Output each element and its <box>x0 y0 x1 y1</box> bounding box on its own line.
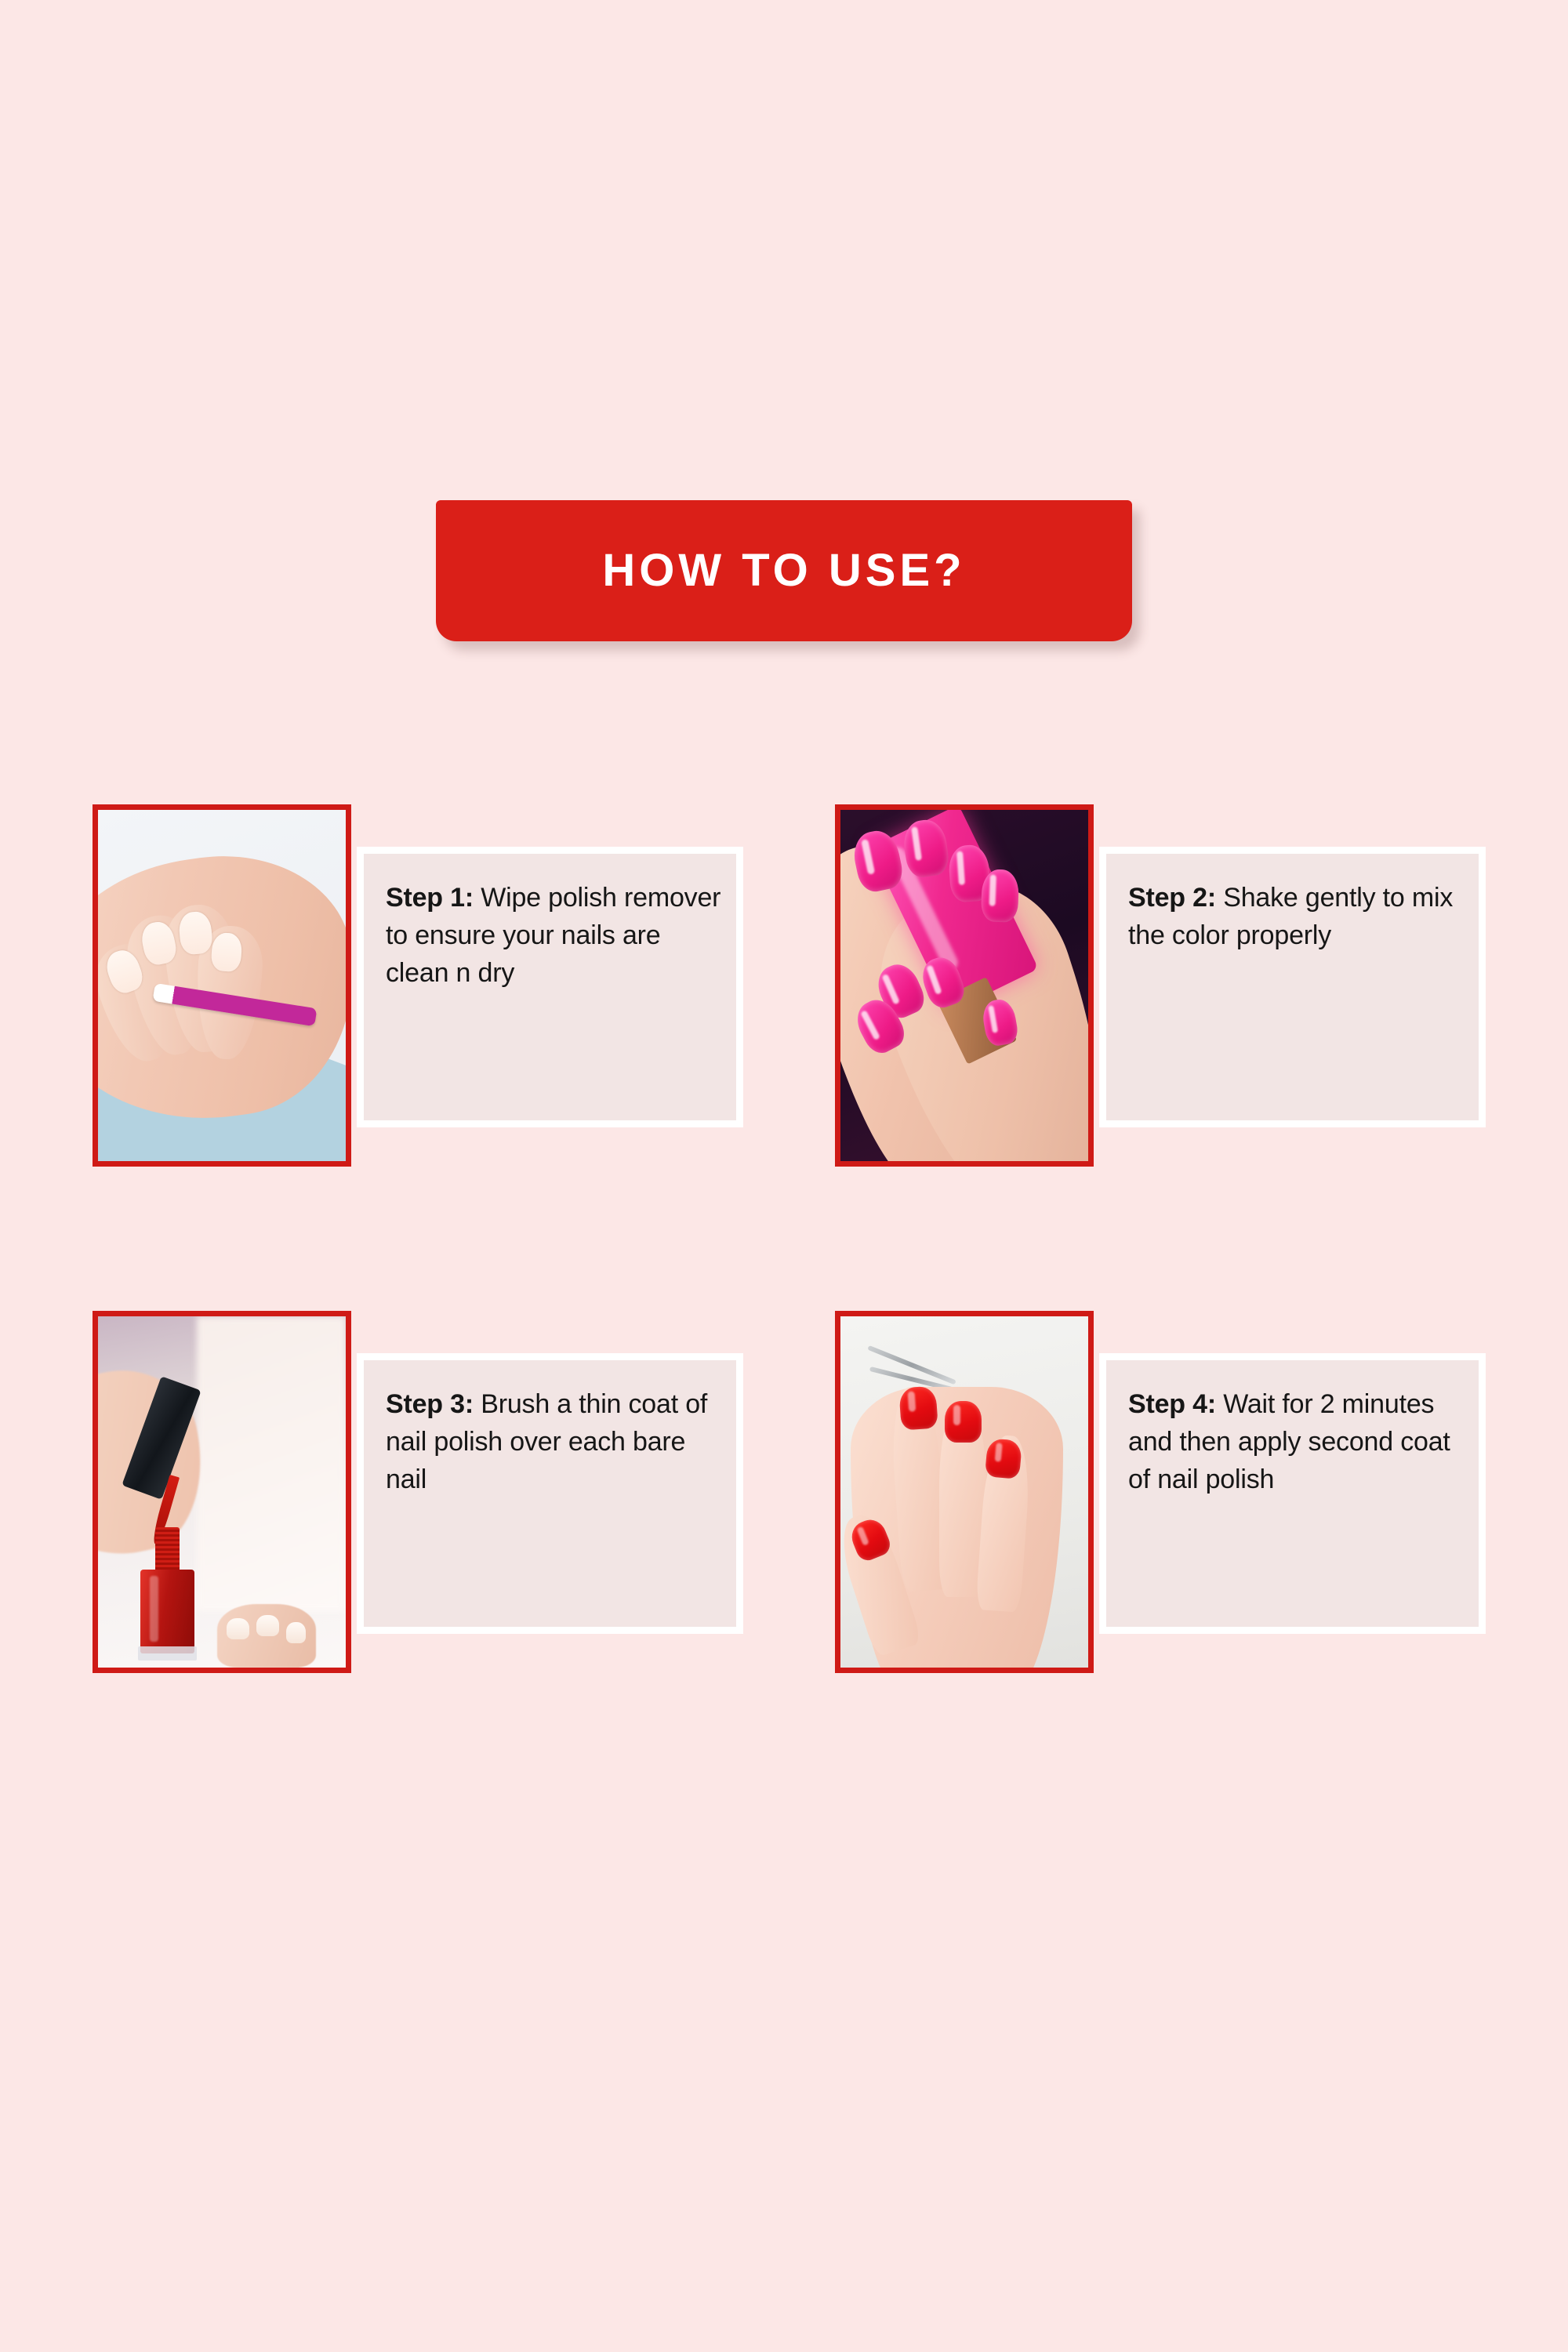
step-3-text-panel: Step 3: Brush a thin coat of nail polish… <box>357 1353 743 1634</box>
banner-title: HOW TO USE? <box>602 548 965 593</box>
step-4-label: Step 4: <box>1128 1389 1216 1419</box>
step-2-text-panel: Step 2: Shake gently to mix the color pr… <box>1099 847 1486 1127</box>
step-4-text: Step 4: Wait for 2 minutes and then appl… <box>1128 1385 1465 1498</box>
banner-plate: HOW TO USE? <box>436 500 1132 641</box>
step-4-text-panel: Step 4: Wait for 2 minutes and then appl… <box>1099 1353 1486 1634</box>
step-1-text-panel: Step 1: Wipe polish remover to ensure yo… <box>357 847 743 1127</box>
step-3-photo-frame <box>93 1311 351 1673</box>
step-card-1: Step 1: Wipe polish remover to ensure yo… <box>93 801 782 1170</box>
how-to-use-banner: HOW TO USE? <box>436 500 1132 641</box>
step-card-4: Step 4: Wait for 2 minutes and then appl… <box>835 1308 1525 1676</box>
pink-nails-with-polish-bottle-photo <box>840 810 1088 1161</box>
step-3-label: Step 3: <box>386 1389 474 1419</box>
step-2-text: Step 2: Shake gently to mix the color pr… <box>1128 879 1465 954</box>
step-2-photo-frame <box>835 804 1094 1167</box>
step-3-text: Step 3: Brush a thin coat of nail polish… <box>386 1385 722 1498</box>
step-1-text: Step 1: Wipe polish remover to ensure yo… <box>386 879 722 992</box>
applying-red-polish-with-brush-photo <box>98 1316 346 1668</box>
step-card-2: Step 2: Shake gently to mix the color pr… <box>835 801 1525 1170</box>
step-card-3: Step 3: Brush a thin coat of nail polish… <box>93 1308 782 1676</box>
hand-with-cuticle-stick-photo <box>98 810 346 1161</box>
step-2-label: Step 2: <box>1128 883 1216 913</box>
step-1-label: Step 1: <box>386 883 474 913</box>
step-4-photo-frame <box>835 1311 1094 1673</box>
red-manicured-hand-with-scissors-photo <box>840 1316 1088 1668</box>
step-1-photo-frame <box>93 804 351 1167</box>
